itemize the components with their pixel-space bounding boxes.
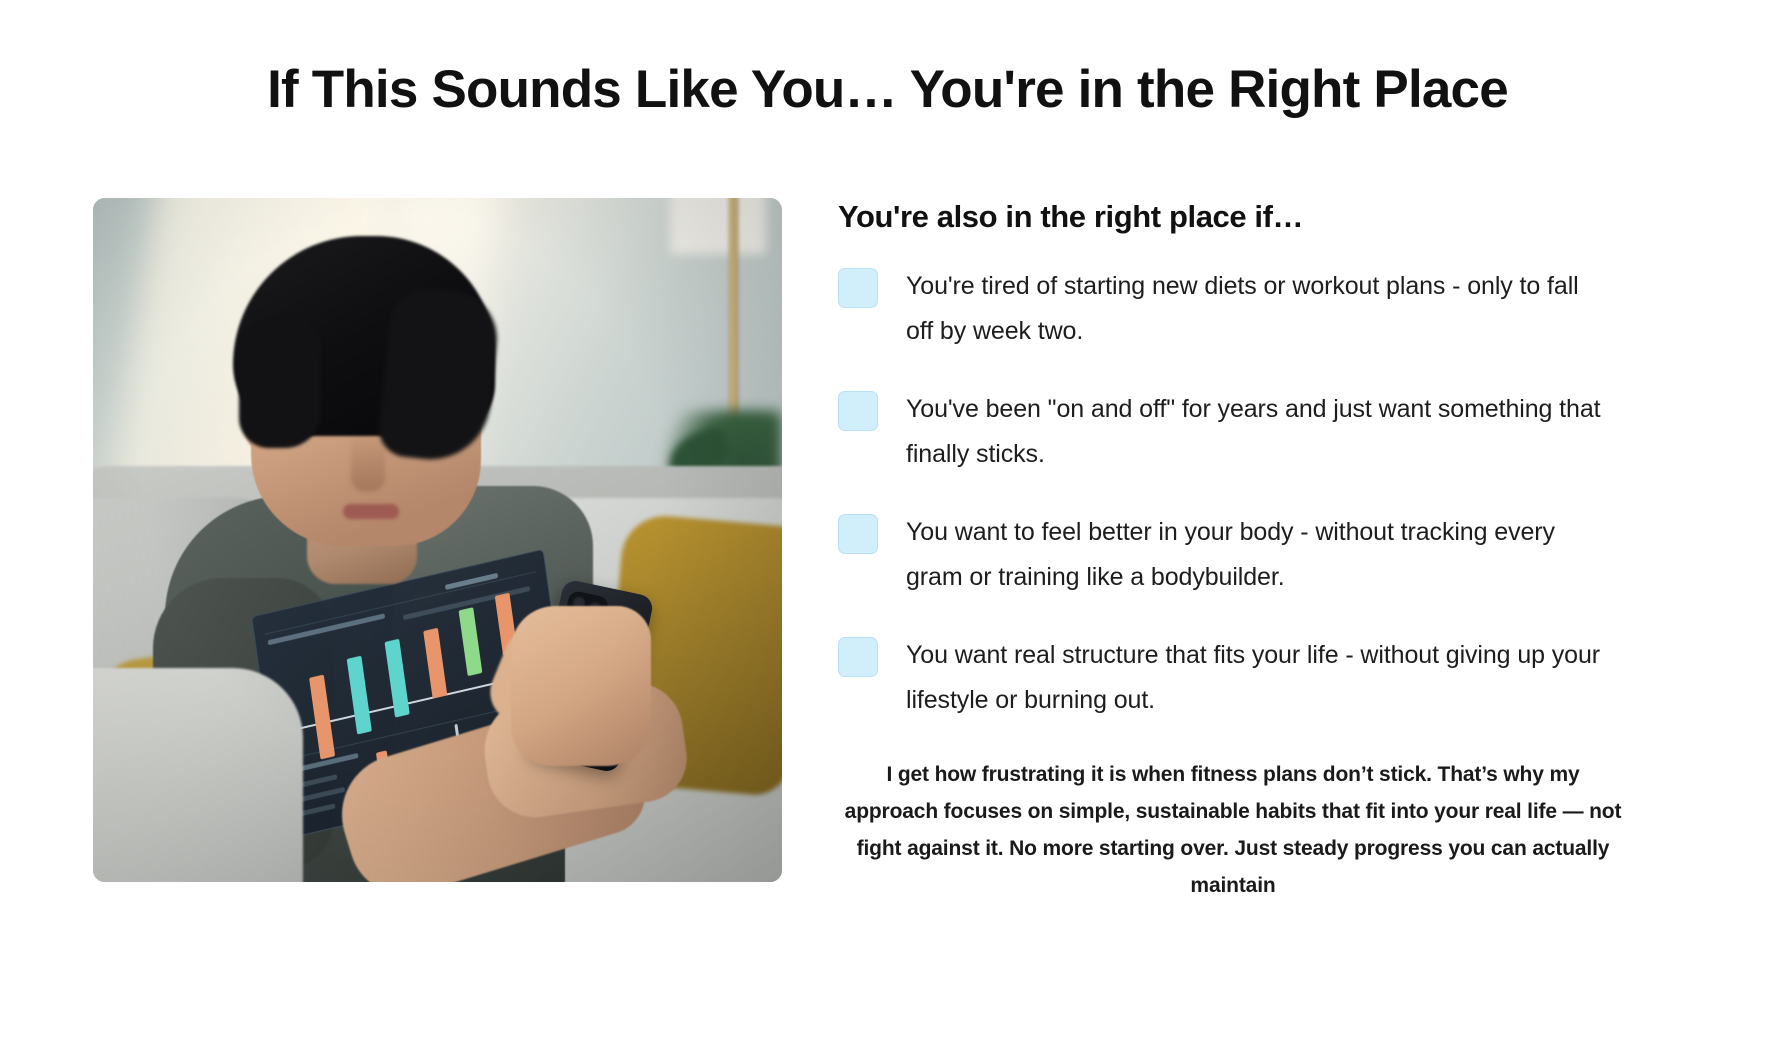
- landing-section: If This Sounds Like You… You're in the R…: [0, 0, 1775, 1049]
- person-nose: [351, 434, 385, 492]
- chart-bar-1: [309, 675, 335, 760]
- list-item-label: You want real structure that fits your l…: [906, 633, 1606, 723]
- page-title: If This Sounds Like You… You're in the R…: [0, 58, 1775, 122]
- chart-bar-5: [459, 607, 483, 676]
- list-item[interactable]: You want to feel better in your body - w…: [838, 510, 1638, 600]
- list-item-label: You want to feel better in your body - w…: [906, 510, 1606, 600]
- person-mouth: [343, 504, 399, 519]
- list-item[interactable]: You want real structure that fits your l…: [838, 633, 1638, 723]
- closing-paragraph: I get how frustrating it is when fitness…: [838, 756, 1628, 904]
- checkbox-icon[interactable]: [838, 268, 878, 308]
- checkbox-icon[interactable]: [838, 637, 878, 677]
- checkbox-icon[interactable]: [838, 391, 878, 431]
- person-hair-side: [239, 318, 321, 448]
- photo-canvas: [93, 198, 782, 882]
- list-item-label: You've been "on and off" for years and j…: [906, 387, 1606, 477]
- checkbox-icon[interactable]: [838, 514, 878, 554]
- lamp-shade: [670, 198, 766, 254]
- checklist-heading: You're also in the right place if…: [838, 198, 1638, 236]
- chart-bar-2: [347, 656, 372, 735]
- couch-arm-front: [93, 668, 303, 882]
- checklist-column: You're also in the right place if… You'r…: [838, 198, 1638, 904]
- benefits-checklist: You're tired of starting new diets or wo…: [838, 264, 1638, 723]
- content-columns: You're also in the right place if… You'r…: [0, 198, 1775, 998]
- person-hand: [511, 606, 651, 766]
- list-item[interactable]: You're tired of starting new diets or wo…: [838, 264, 1638, 354]
- list-item-label: You're tired of starting new diets or wo…: [906, 264, 1606, 354]
- list-item[interactable]: You've been "on and off" for years and j…: [838, 387, 1638, 477]
- hero-photo: [93, 198, 782, 882]
- chart-bar-4: [423, 628, 447, 699]
